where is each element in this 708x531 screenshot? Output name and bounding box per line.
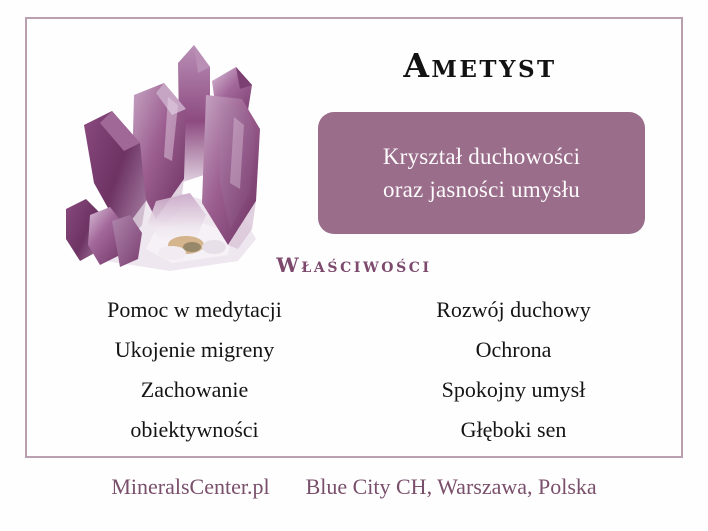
properties-column-right: Rozwój duchowy Ochrona Spokojny umysł Gł… bbox=[354, 290, 673, 450]
amethyst-info-card: Ametyst Kryształ duchowości oraz jasnośc… bbox=[0, 0, 708, 531]
properties-list: Pomoc w medytacji Ukojenie migreny Zacho… bbox=[35, 290, 673, 450]
properties-heading: Właściwości bbox=[0, 252, 708, 278]
footer: MineralsCenter.pl Blue City CH, Warszawa… bbox=[0, 472, 708, 502]
subtitle-line-1: Kryształ duchowości bbox=[383, 140, 580, 173]
property-item: Głęboki sen bbox=[354, 410, 673, 450]
property-item: Pomoc w medytacji bbox=[35, 290, 354, 330]
page-title: Ametyst bbox=[330, 46, 630, 86]
subtitle-banner: Kryształ duchowości oraz jasności umysłu bbox=[318, 112, 645, 234]
crystal-inclusion bbox=[183, 242, 201, 252]
amethyst-crystal-svg bbox=[60, 33, 285, 283]
property-item: Rozwój duchowy bbox=[354, 290, 673, 330]
property-item: Zachowanie obiektywności bbox=[35, 370, 354, 450]
amethyst-crystal-cluster-image bbox=[60, 33, 285, 283]
property-item: Ochrona bbox=[354, 330, 673, 370]
footer-location: Blue City CH, Warszawa, Polska bbox=[306, 472, 597, 502]
properties-column-left: Pomoc w medytacji Ukojenie migreny Zacho… bbox=[35, 290, 354, 450]
property-item: Spokojny umysł bbox=[354, 370, 673, 410]
footer-brand[interactable]: MineralsCenter.pl bbox=[111, 472, 269, 502]
property-item: Ukojenie migreny bbox=[35, 330, 354, 370]
subtitle-line-2: oraz jasności umysłu bbox=[383, 173, 580, 206]
